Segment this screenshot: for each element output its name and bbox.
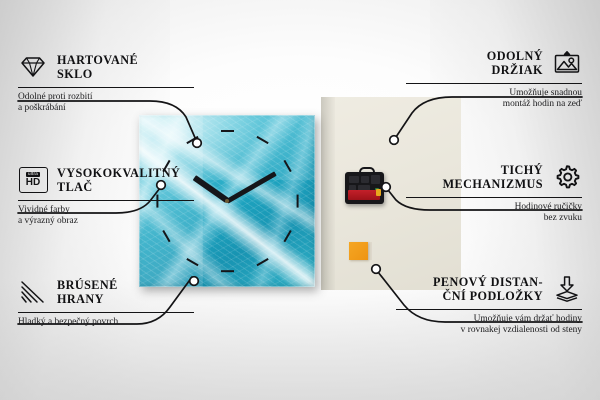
diamond-icon	[18, 52, 48, 82]
clock-center-pin	[225, 199, 229, 203]
mechanism-battery-terminal	[376, 189, 381, 196]
wall-shadow	[321, 97, 335, 290]
callout-description: Hladký a bezpečný povrch	[18, 317, 194, 328]
callout-divider	[18, 312, 194, 313]
feature-callout-durable-hanger[interactable]: ODOLNÝ DRŽIAK Umožňuje snadnou montáž ho…	[406, 46, 582, 111]
layers-down-arrow-icon	[552, 274, 582, 304]
callout-divider	[406, 83, 582, 84]
gear-icon	[552, 162, 582, 192]
callout-header: BRÚSENÉ HRANY	[18, 275, 194, 309]
feature-callout-high-quality-print[interactable]: ultra HD VYSOKOKVALITNÝ TLAČ Vividné far…	[18, 163, 194, 228]
callout-description: Hodinové ručičky bez zvuku	[406, 202, 582, 225]
callout-divider	[396, 309, 582, 310]
mechanism-detail	[371, 175, 380, 184]
feature-callout-foam-spacers[interactable]: PENOVÝ DISTAN- ČNÍ PODLOŽKY Umožňuje vám…	[396, 272, 582, 337]
feature-callout-silent-mechanism[interactable]: TICHÝ MECHANIZMUS Hodinové ručičky bez z…	[406, 160, 582, 225]
callout-title: ODOLNÝ DRŽIAK	[487, 49, 543, 78]
clock-hour-marker	[221, 270, 234, 272]
callout-header: PENOVÝ DISTAN- ČNÍ PODLOŽKY	[396, 272, 582, 306]
mechanism-detail	[361, 176, 369, 183]
callout-title: TICHÝ MECHANIZMUS	[443, 163, 543, 192]
callout-title: BRÚSENÉ HRANY	[57, 278, 118, 307]
infographic-canvas: HARTOVANÉ SKLO Odolné proti rozbití a po…	[0, 0, 600, 400]
callout-description: Odolné proti rozbití a poškrábání	[18, 92, 194, 115]
callout-header: TICHÝ MECHANIZMUS	[406, 160, 582, 194]
callout-header: ODOLNÝ DRŽIAK	[406, 46, 582, 80]
callout-title: PENOVÝ DISTAN- ČNÍ PODLOŽKY	[433, 275, 543, 304]
hatch-lines-icon	[18, 277, 48, 307]
clock-hour-marker	[296, 194, 298, 207]
mechanism-detail	[349, 176, 359, 183]
callout-title: HARTOVANÉ SKLO	[57, 53, 138, 82]
feature-callout-tempered-glass[interactable]: HARTOVANÉ SKLO Odolné proti rozbití a po…	[18, 50, 194, 115]
callout-divider	[406, 197, 582, 198]
callout-description: Umožňuje vám držať hodiny v rovnakej vzd…	[396, 314, 582, 337]
callout-header: ultra HD VYSOKOKVALITNÝ TLAČ	[18, 163, 194, 197]
picture-frame-icon	[552, 48, 582, 78]
callout-description: Vividné farby a výrazný obraz	[18, 205, 194, 228]
ultra-hd-icon: ultra HD	[18, 165, 48, 195]
callout-divider	[18, 200, 194, 201]
callout-description: Umožňuje snadnou montáž hodin na zeď	[406, 88, 582, 111]
callout-header: HARTOVANÉ SKLO	[18, 50, 194, 84]
clock-hour-marker	[221, 130, 234, 132]
foam-distance-pad	[349, 242, 368, 260]
callout-title: VYSOKOKVALITNÝ TLAČ	[57, 166, 180, 195]
feature-callout-ground-edges[interactable]: BRÚSENÉ HRANY Hladký a bezpečný povrch	[18, 275, 194, 328]
ultra-hd-icon-hd-text: HD	[26, 178, 40, 188]
callout-divider	[18, 87, 194, 88]
clock-mechanism	[345, 167, 384, 204]
